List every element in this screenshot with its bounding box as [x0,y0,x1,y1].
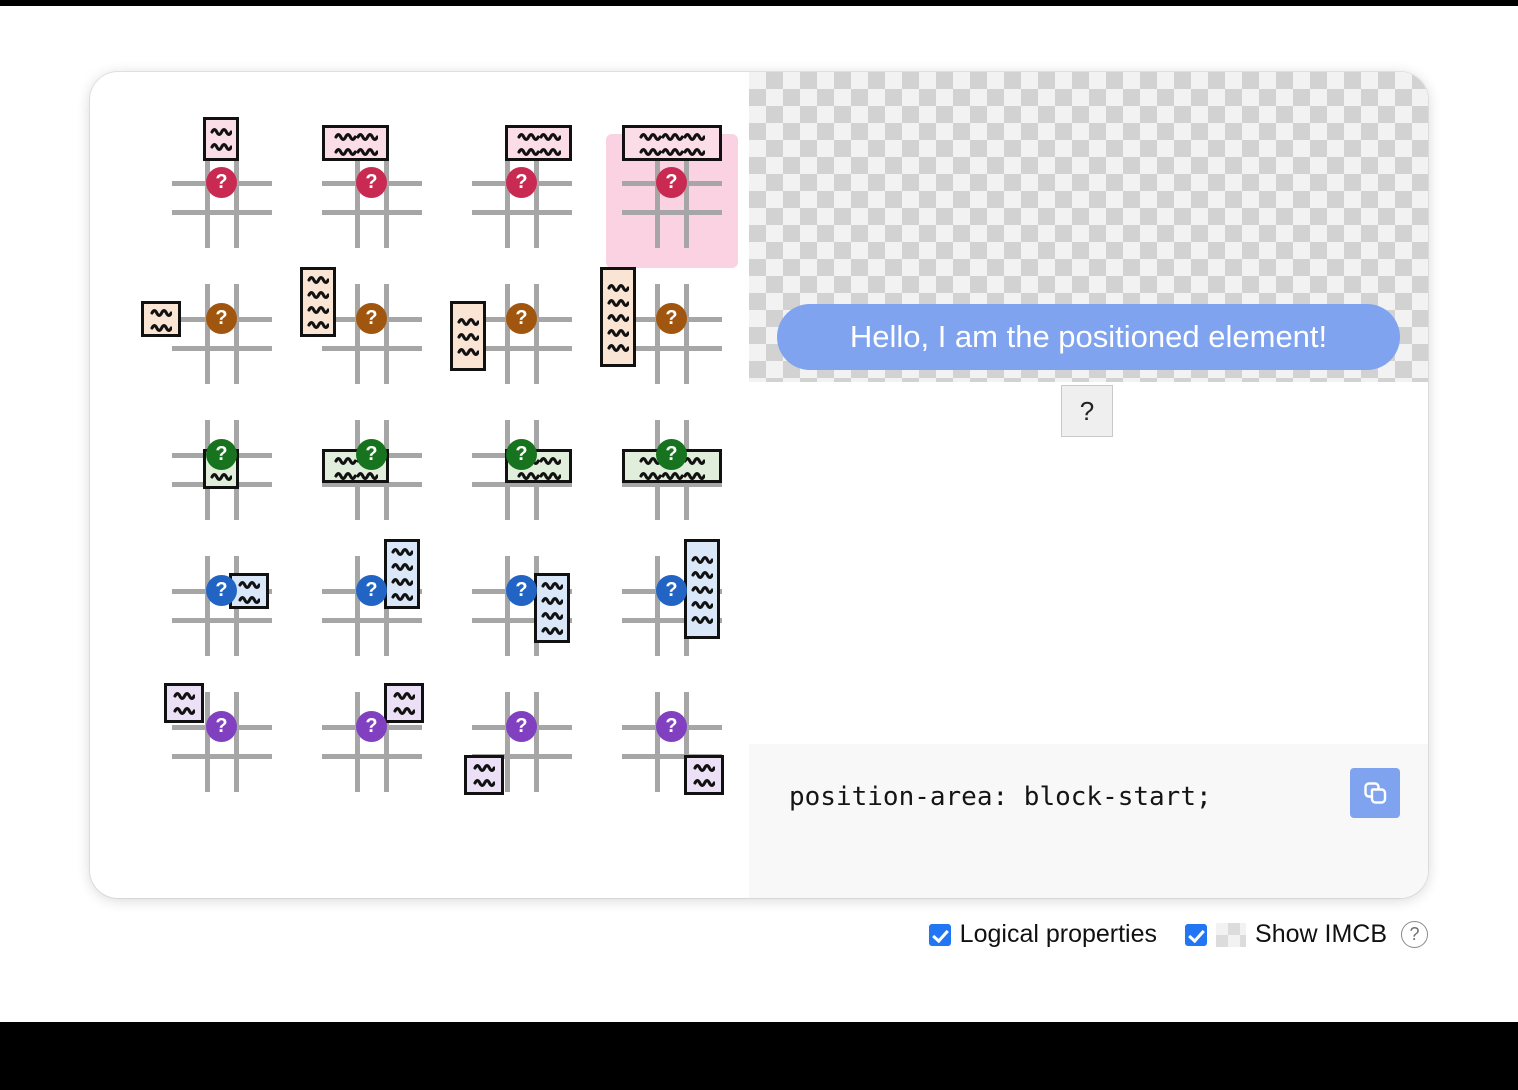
position-area-option-block-start-span-all[interactable]: ? [606,134,738,268]
position-area-options-pane: ???????????????????? [90,72,749,898]
option-anchor-dot: ? [506,439,537,470]
position-area-option-block-start-span-inline-end[interactable]: ? [456,134,588,268]
option-anchor-dot: ? [206,167,237,198]
help-icon[interactable]: ? [1401,921,1428,948]
squiggle-text-icon [639,129,705,159]
code-panel: position-area: block-start; [749,744,1428,898]
option-anchor-dot: ? [506,711,537,742]
grid-line-h2 [472,346,572,351]
option-positioned-box [684,755,724,795]
grid-line-v1 [355,284,360,384]
grid-line-h2 [322,618,422,623]
option-grid-lines: ? [622,420,722,520]
option-positioned-box [384,683,424,723]
option-anchor-dot: ? [656,303,687,334]
grid-line-v1 [505,692,510,792]
anchor-element: ? [1061,385,1113,437]
grid-line-v1 [205,556,210,656]
squiggle-text-icon [334,129,378,159]
position-area-option-start-end[interactable]: ? [306,678,438,812]
grid-line-v1 [655,284,660,384]
option-grid-lines: ? [322,148,422,248]
option-grid-lines: ? [172,556,272,656]
option-anchor-dot: ? [506,167,537,198]
grid-line-v1 [505,556,510,656]
squiggle-text-icon [541,578,563,638]
squiggle-text-icon [517,129,561,159]
position-area-option-inline-start-span-block-end[interactable]: ? [456,270,588,404]
option-positioned-box [450,301,486,371]
position-area-option-inline-start-span-block-start[interactable]: ? [306,270,438,404]
option-anchor-dot: ? [656,711,687,742]
logical-properties-checkbox[interactable] [929,924,951,946]
grid-line-v2 [684,148,689,248]
option-anchor-dot: ? [206,303,237,334]
squiggle-text-icon [457,314,479,359]
option-grid-lines: ? [622,148,722,248]
grid-line-v1 [205,284,210,384]
option-positioned-box [534,573,570,643]
grid-line-h2 [622,210,722,215]
option-anchor-dot: ? [356,711,387,742]
option-grid-lines: ? [172,420,272,520]
grid-line-v2 [384,284,389,384]
squiggle-text-icon [391,544,413,604]
grid-line-h2 [472,210,572,215]
position-area-option-block-end-span-inline-start[interactable]: ? [306,406,438,540]
option-grid-lines: ? [172,284,272,384]
option-grid-lines: ? [472,284,572,384]
position-area-option-block-start-span-inline-start[interactable]: ? [306,134,438,268]
logical-properties-label: Logical properties [960,920,1157,949]
grid-line-h2 [322,754,422,759]
position-area-option-end-end[interactable]: ? [606,678,738,812]
position-area-option-block-end-span-all[interactable]: ? [606,406,738,540]
option-anchor-dot: ? [356,303,387,334]
grid-line-v2 [684,284,689,384]
grid-line-v2 [234,148,239,248]
checkerboard-swatch-icon [1216,923,1246,947]
grid-line-h2 [172,210,272,215]
position-area-option-inline-end-center[interactable]: ? [156,542,288,676]
grid-line-v2 [384,148,389,248]
grid-line-v2 [534,284,539,384]
option-grid-lines: ? [322,556,422,656]
grid-line-v2 [234,284,239,384]
squiggle-text-icon [173,688,195,718]
demo-footer: Logical properties Show IMCB ? [0,920,1428,949]
grid-line-h2 [172,346,272,351]
grid-line-v1 [655,148,660,248]
letterbox-bottom [0,1022,1518,1090]
squiggle-text-icon [693,760,715,790]
grid-line-h2 [322,346,422,351]
option-anchor-dot: ? [506,303,537,334]
grid-line-v1 [505,148,510,248]
option-anchor-dot: ? [206,439,237,470]
option-grid-lines: ? [172,148,272,248]
grid-line-v1 [205,692,210,792]
code-snippet: position-area: block-start; [789,782,1212,812]
option-positioned-box [464,755,504,795]
option-positioned-box [203,117,239,161]
option-positioned-box [622,125,722,161]
position-area-option-grid: ???????????????????? [156,134,738,812]
option-grid-lines: ? [472,148,572,248]
option-anchor-dot: ? [356,575,387,606]
option-positioned-box [505,125,572,161]
option-positioned-box [684,539,720,639]
option-positioned-box [300,267,336,337]
squiggle-text-icon [473,760,495,790]
option-positioned-box [164,683,204,723]
position-area-option-end-start[interactable]: ? [456,678,588,812]
option-grid-lines: ? [322,420,422,520]
grid-line-h2 [172,754,272,759]
option-anchor-dot: ? [656,439,687,470]
option-grid-lines: ? [622,692,722,792]
squiggle-text-icon [307,272,329,332]
position-area-option-inline-end-span-block-start[interactable]: ? [306,542,438,676]
grid-line-v1 [205,148,210,248]
squiggle-text-icon [238,577,260,607]
copy-icon [1361,779,1389,807]
position-area-option-block-end-self-inline-start[interactable]: ? [156,406,288,540]
squiggle-text-icon [150,305,172,335]
option-grid-lines: ? [322,284,422,384]
grid-line-v2 [234,692,239,792]
squiggle-text-icon [607,280,629,355]
option-positioned-box [141,301,181,337]
squiggle-text-icon [210,124,232,154]
logical-properties-control[interactable]: Logical properties [929,920,1157,949]
show-imcb-label: Show IMCB [1255,920,1387,949]
grid-line-h2 [322,210,422,215]
demo-card: ???????????????????? Hello, I am the pos… [90,72,1428,898]
option-positioned-box [600,267,636,367]
grid-line-v1 [655,556,660,656]
grid-line-v1 [355,692,360,792]
squiggle-text-icon [691,552,713,627]
grid-line-v1 [505,284,510,384]
grid-line-v1 [355,148,360,248]
option-grid-lines: ? [472,556,572,656]
option-grid-lines: ? [622,556,722,656]
grid-line-v2 [534,148,539,248]
option-grid-lines: ? [322,692,422,792]
option-anchor-dot: ? [656,167,687,198]
grid-line-v1 [655,692,660,792]
copy-button[interactable] [1350,768,1400,818]
letterbox-top [0,0,1518,6]
position-area-option-inline-start-center[interactable]: ? [156,270,288,404]
option-grid-lines: ? [622,284,722,384]
show-imcb-checkbox[interactable] [1185,924,1207,946]
demo-root: ???????????????????? Hello, I am the pos… [0,0,1518,1090]
position-area-option-inline-start-span-all[interactable]: ? [606,270,738,404]
grid-line-h2 [172,618,272,623]
position-area-option-start-start[interactable]: ? [156,678,288,812]
grid-line-v1 [355,556,360,656]
option-grid-lines: ? [472,692,572,792]
position-area-option-inline-end-span-block-end[interactable]: ? [456,542,588,676]
positioned-element-bubble: Hello, I am the positioned element! [777,304,1400,370]
option-anchor-dot: ? [656,575,687,606]
position-area-option-block-end-span-inline-end[interactable]: ? [456,406,588,540]
grid-line-v2 [534,692,539,792]
option-grid-lines: ? [172,692,272,792]
option-positioned-box [384,539,420,609]
option-anchor-dot: ? [206,575,237,606]
option-anchor-dot: ? [206,711,237,742]
option-grid-lines: ? [472,420,572,520]
position-area-option-block-start-self-inline-start[interactable]: ? [156,134,288,268]
grid-line-h2 [622,346,722,351]
position-area-option-inline-end-span-all[interactable]: ? [606,542,738,676]
squiggle-text-icon [393,688,415,718]
option-positioned-box [322,125,389,161]
option-anchor-dot: ? [356,439,387,470]
option-anchor-dot: ? [506,575,537,606]
option-anchor-dot: ? [356,167,387,198]
show-imcb-control[interactable]: Show IMCB [1185,920,1387,949]
